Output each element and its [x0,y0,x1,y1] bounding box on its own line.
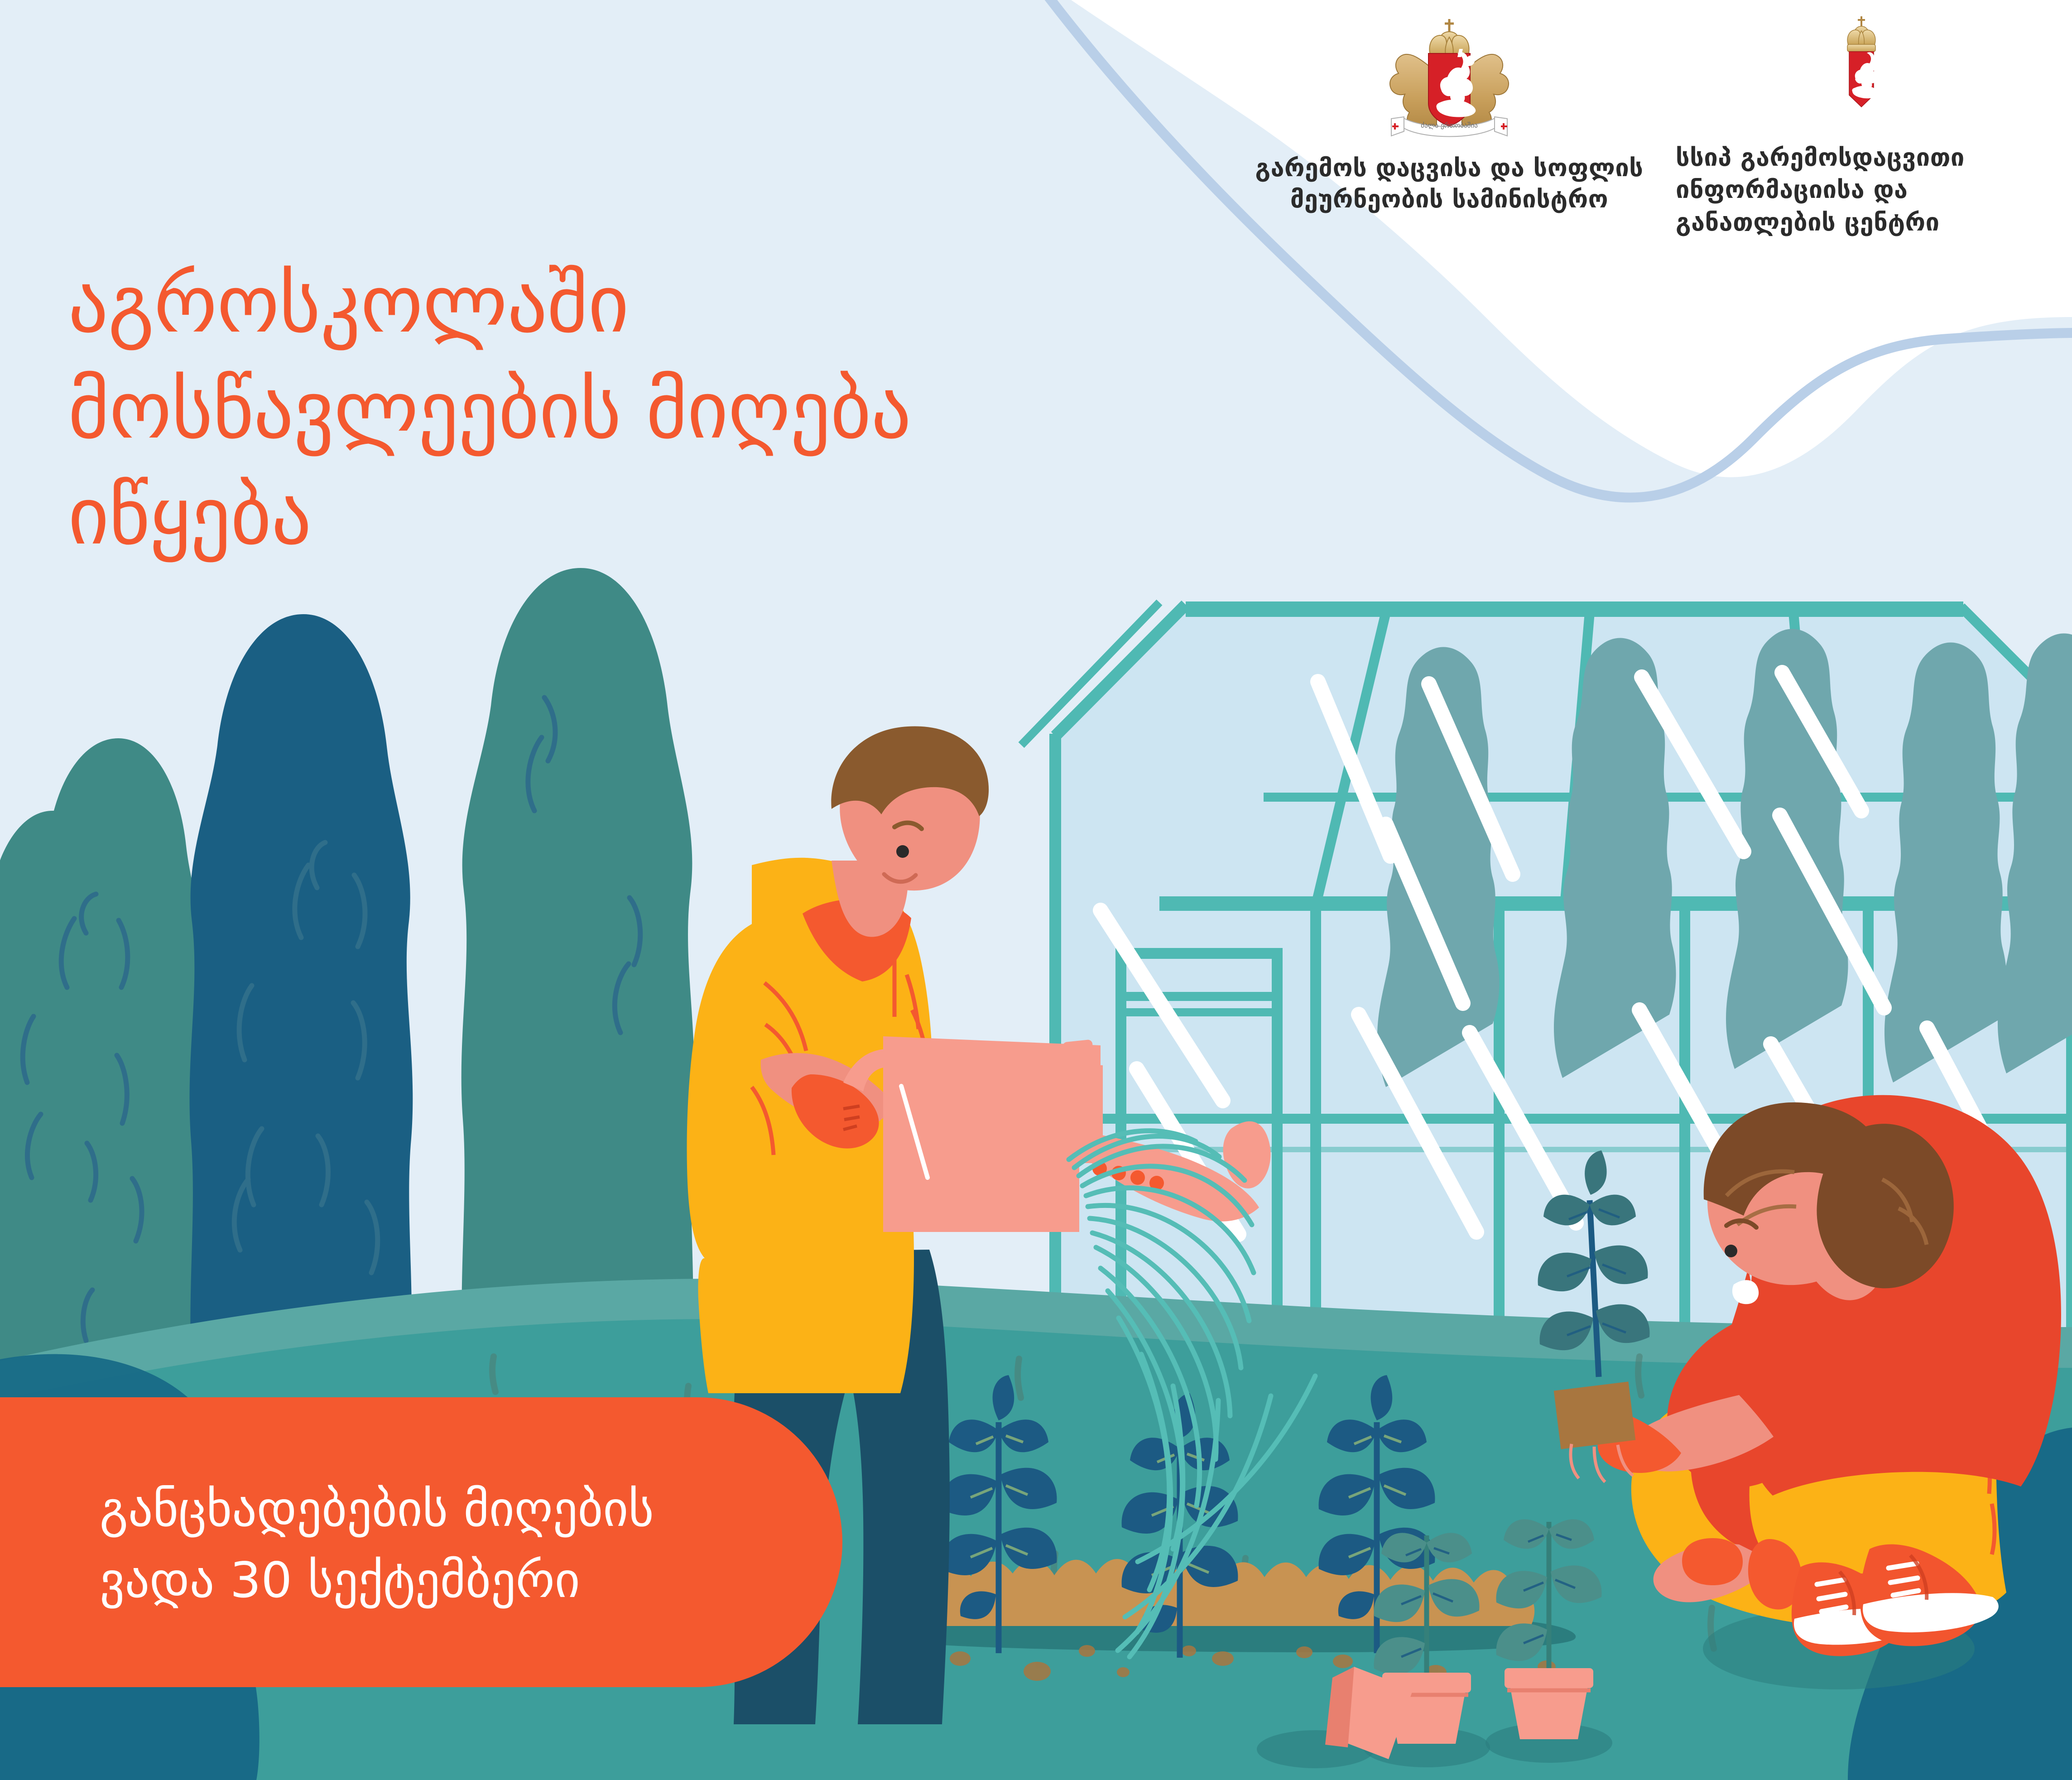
deadline-banner-text: განცხადებების მიღების ვადა 30 სექტემბერი [100,1474,870,1616]
logo-center-caption: სსიპ გარემოსდაცვითი ინფორმაციისა და განა… [1676,141,2047,238]
georgia-coat-of-arms-icon: ძალა ერთობაშია [1381,14,1517,140]
woman-smile [1732,1280,1759,1304]
logo-ministry-caption: გარემოს დაცვისა და სოფლის მეურნეობის სამ… [1255,152,1644,215]
logo-ministry-block: ძალა ერთობაშია გარემოს დაცვისა და სოფლის… [1250,14,1649,215]
man-eye [896,845,909,858]
crown-icon [1847,16,1875,52]
seedling-root-block [1554,1381,1636,1449]
poster-root: ძალა ერთობაშია გარემოს დაცვისა და სოფლის… [0,0,2072,1780]
tree-2 [24,738,207,1386]
tree-3 [190,614,413,1413]
woman-eye [1725,1245,1737,1257]
page-title: აგროსკოლაში მოსწავლეების მიღება იწყება [68,251,1245,569]
logo-center-block: სსიპ გარემოსდაცვითი ინფორმაციისა და განა… [1676,14,2047,238]
georgia-shield-crown-icon [1831,14,1892,113]
svg-text:ძალა ერთობაშია: ძალა ერთობაშია [1421,121,1478,130]
woman-ponytail [1817,1124,1953,1288]
tree-4 [462,568,694,1404]
woman-cuff [1682,1538,1743,1585]
